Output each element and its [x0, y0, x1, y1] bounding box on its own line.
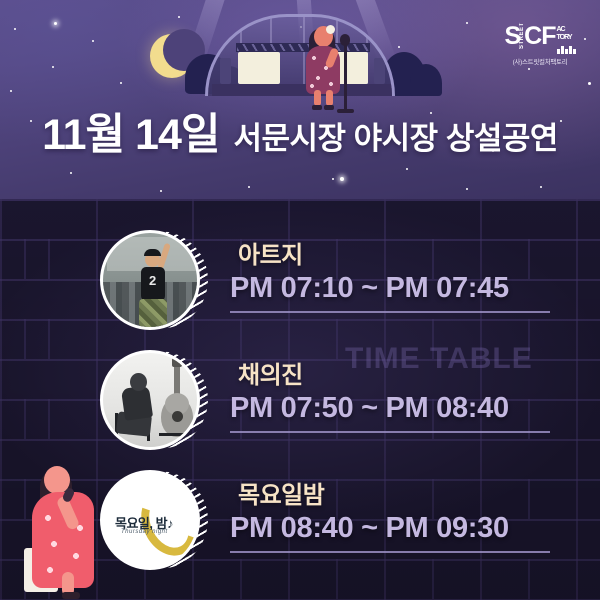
list-item[interactable]: 채의진 PM 07:50 ~ PM 08:40: [0, 339, 600, 459]
performance-time: PM 07:10 ~ PM 07:45: [230, 272, 560, 305]
event-date: 11월 14일: [42, 100, 219, 162]
artist-avatar-wrap: [100, 347, 206, 453]
logo-letter-s: S: [504, 24, 520, 49]
artist-info: 채의진 PM 07:50 ~ PM 08:40: [230, 339, 560, 433]
logo-factory-icon: [557, 43, 576, 54]
stage-singer-illustration: [300, 24, 352, 110]
stage-screen-left: [238, 52, 280, 84]
avatar: 목요일, 밤♪ Thursday night: [100, 470, 200, 570]
stage-speaker-right: [374, 58, 385, 84]
logo-word-street: STREET: [519, 27, 525, 49]
divider: [230, 551, 550, 553]
performance-time: PM 07:50 ~ PM 08:40: [230, 392, 560, 425]
artist-name: 채의진: [238, 355, 303, 390]
avatar: 2: [100, 230, 200, 330]
seated-singer-illustration: [18, 452, 110, 600]
stage-speaker-left: [220, 58, 231, 84]
hair-flower-icon: [326, 25, 335, 34]
artist-name: 아트지: [238, 235, 303, 270]
logo-subtitle: (사)스트릿컬처팩토리: [494, 56, 586, 66]
event-poster: S STREET CF AC TORY (사)스트릿컬처팩토리 11월 14일 …: [0, 0, 600, 600]
logo-word-tory: TORY: [557, 34, 576, 42]
thursday-logo-english: Thursday night: [121, 529, 168, 535]
microphone-icon: [340, 34, 350, 46]
divider: [230, 431, 550, 433]
artist-avatar-wrap: 목요일, 밤♪ Thursday night: [100, 467, 206, 573]
dome-stage-illustration: [205, 14, 395, 96]
list-item[interactable]: 2 아트지 PM 07:10 ~ PM 07:45: [0, 219, 600, 339]
poster-title: 11월 14일 서문시장 야시장 상설공연: [0, 100, 600, 162]
logo-letters-cf: CF: [524, 24, 555, 49]
bush-right-2: [410, 64, 442, 96]
artist-info: 아트지 PM 07:10 ~ PM 07:45: [230, 219, 560, 313]
avatar: [100, 350, 200, 450]
artist-avatar-wrap: 2: [100, 227, 206, 333]
divider: [230, 311, 550, 313]
artist-name: 목요일밤: [238, 475, 324, 510]
performance-time: PM 08:40 ~ PM 09:30: [230, 512, 560, 545]
event-name: 서문시장 야시장 상설공연: [233, 113, 557, 158]
night-sky-background: S STREET CF AC TORY (사)스트릿컬처팩토리 11월 14일 …: [0, 0, 600, 199]
artist-info: 목요일밤 PM 08:40 ~ PM 09:30: [230, 459, 560, 553]
logo-word-ac: AC: [557, 26, 576, 34]
scf-logo: S STREET CF AC TORY (사)스트릿컬처팩토리: [494, 24, 586, 66]
